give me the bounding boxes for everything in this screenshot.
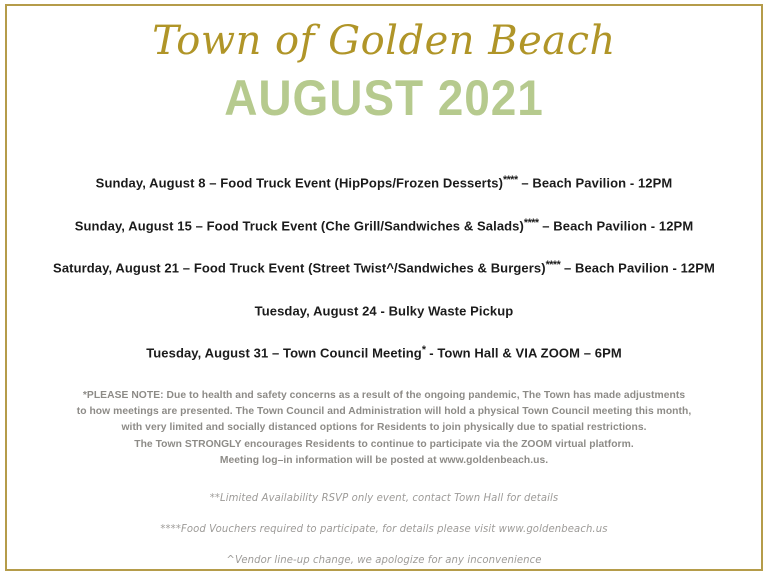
event-item: Tuesday, August 31 – Town Council Meetin… — [20, 342, 749, 362]
event-tail: – Beach Pavilion - 12PM — [518, 176, 673, 191]
event-marker: **** — [503, 174, 518, 186]
event-marker: **** — [546, 259, 561, 271]
notice-line: The Town STRONGLY encourages Residents t… — [14, 437, 754, 453]
notice-line: with very limited and socially distanced… — [14, 420, 754, 436]
event-text: Sunday, August 15 – Food Truck Event (Ch… — [75, 218, 524, 233]
event-item: Tuesday, August 24 - Bulky Waste Pickup — [20, 300, 749, 320]
event-tail: – Beach Pavilion - 12PM — [560, 261, 715, 276]
footnote-item: **Limited Availability RSVP only event, … — [29, 491, 739, 506]
notice-line: to how meetings are presented. The Town … — [14, 404, 754, 420]
footnote-item: ****Food Vouchers required to participat… — [29, 522, 739, 537]
event-tail: – Beach Pavilion - 12PM — [539, 218, 694, 233]
event-text: Tuesday, August 31 – Town Council Meetin… — [146, 346, 422, 361]
footnote-item: ^Vendor line-up change, we apologize for… — [29, 553, 739, 568]
event-list: Sunday, August 8 – Food Truck Event (Hip… — [14, 172, 754, 362]
notice-line: *PLEASE NOTE: Due to health and safety c… — [14, 388, 754, 404]
event-marker: **** — [524, 217, 539, 229]
event-text: Saturday, August 21 – Food Truck Event (… — [53, 261, 546, 276]
footnote-list: **Limited Availability RSVP only event, … — [14, 491, 754, 568]
event-item: Sunday, August 8 – Food Truck Event (Hip… — [20, 172, 749, 192]
event-tail: - Town Hall & VIA ZOOM – 6PM — [426, 346, 622, 361]
page-title: Town of Golden Beach — [14, 0, 754, 66]
notice-line: Meeting log–in information will be poste… — [14, 453, 754, 469]
month-heading: AUGUST 2021 — [44, 66, 725, 126]
flyer-content: Town of Golden Beach AUGUST 2021 Sunday,… — [0, 0, 768, 576]
notice-paragraph: *PLEASE NOTE: Due to health and safety c… — [14, 388, 754, 470]
flyer-page: Town of Golden Beach AUGUST 2021 Sunday,… — [0, 0, 768, 576]
event-text: Sunday, August 8 – Food Truck Event (Hip… — [96, 176, 503, 191]
event-item: Sunday, August 15 – Food Truck Event (Ch… — [20, 215, 749, 235]
event-text: Tuesday, August 24 - Bulky Waste Pickup — [255, 303, 514, 318]
event-item: Saturday, August 21 – Food Truck Event (… — [20, 257, 749, 277]
